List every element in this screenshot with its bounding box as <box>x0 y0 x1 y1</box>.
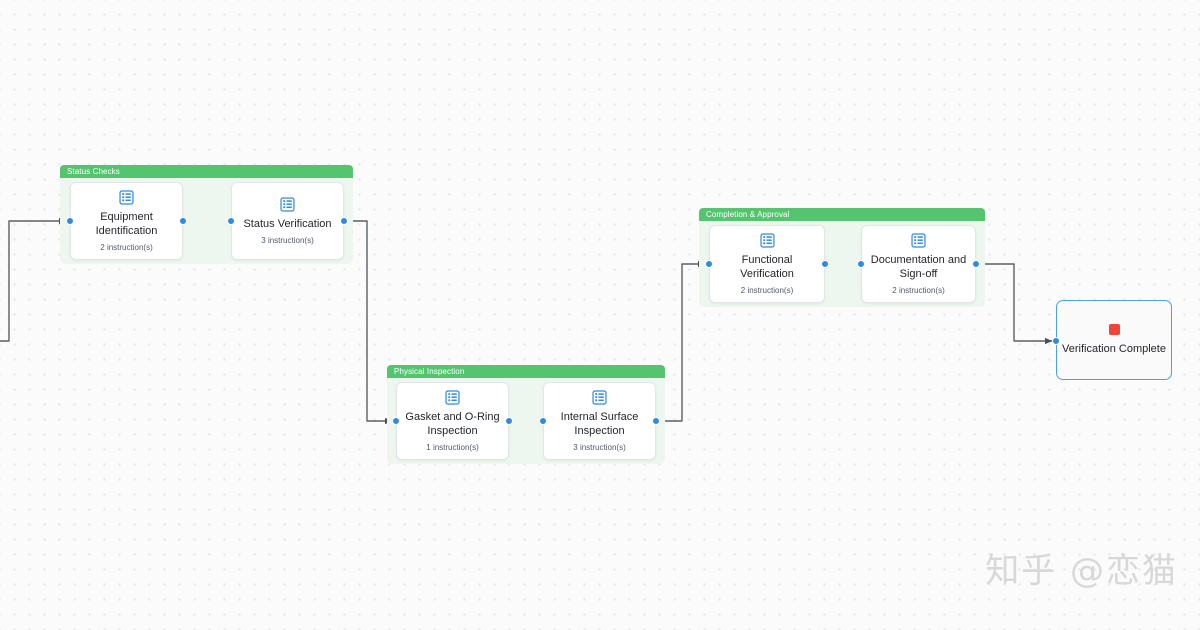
node-title: Equipment Identification <box>79 210 174 238</box>
edge-documentation-to-complete[interactable] <box>976 264 1052 341</box>
list-table-icon <box>119 190 134 205</box>
list-table-icon <box>760 233 775 248</box>
node-status-verification[interactable]: Status Verification3 instruction(s) <box>231 182 344 260</box>
node-instruction-count: 3 instruction(s) <box>573 443 625 453</box>
node-functional-verification[interactable]: Functional Verification2 instruction(s) <box>709 225 825 303</box>
node-documentation-signoff[interactable]: Documentation and Sign-off2 instruction(… <box>861 225 976 303</box>
node-title: Functional Verification <box>718 253 816 281</box>
node-instruction-count: 2 instruction(s) <box>741 286 793 296</box>
node-internal-surface-inspection[interactable]: Internal Surface Inspection3 instruction… <box>543 382 656 460</box>
watermark: 知乎 @恋猫 <box>985 543 1178 592</box>
connection-handle-h-internal-out[interactable] <box>652 417 660 425</box>
connection-handle-h-equip-out[interactable] <box>179 217 187 225</box>
node-verification-complete[interactable]: Verification Complete <box>1056 300 1172 380</box>
node-instruction-count: 2 instruction(s) <box>892 286 944 296</box>
list-table-icon <box>592 390 607 405</box>
node-title: Status Verification <box>243 217 331 231</box>
workflow-canvas[interactable]: Status ChecksPhysical InspectionCompleti… <box>0 0 1200 630</box>
connection-handle-h-gasket-in[interactable] <box>392 417 400 425</box>
group-header-physical-inspection: Physical Inspection <box>387 365 665 378</box>
node-equipment-identification[interactable]: Equipment Identification2 instruction(s) <box>70 182 183 260</box>
edge-entry-to-equipment[interactable] <box>0 221 66 341</box>
connection-handle-h-func-in[interactable] <box>705 260 713 268</box>
list-table-icon <box>445 390 460 405</box>
node-instruction-count: 3 instruction(s) <box>261 236 313 246</box>
connection-handle-h-end-in[interactable] <box>1052 337 1060 345</box>
connection-handle-h-status-in[interactable] <box>227 217 235 225</box>
connection-handle-h-gasket-out[interactable] <box>505 417 513 425</box>
connection-handle-h-func-out[interactable] <box>821 260 829 268</box>
stop-square-icon <box>1109 324 1120 335</box>
connection-handle-h-equip-in[interactable] <box>66 217 74 225</box>
end-node-title: Verification Complete <box>1062 342 1166 356</box>
connection-handle-h-status-out[interactable] <box>340 217 348 225</box>
node-gasket-oring-inspection[interactable]: Gasket and O-Ring Inspection1 instructio… <box>396 382 509 460</box>
node-title: Gasket and O-Ring Inspection <box>405 410 500 438</box>
list-table-icon <box>911 233 926 248</box>
edges-layer <box>0 0 1200 630</box>
connection-handle-h-internal-in[interactable] <box>539 417 547 425</box>
group-header-status-checks: Status Checks <box>60 165 353 178</box>
node-instruction-count: 2 instruction(s) <box>100 243 152 253</box>
group-header-completion-approval: Completion & Approval <box>699 208 985 221</box>
connection-handle-h-doc-in[interactable] <box>857 260 865 268</box>
list-table-icon <box>280 197 295 212</box>
node-title: Internal Surface Inspection <box>552 410 647 438</box>
node-instruction-count: 1 instruction(s) <box>426 443 478 453</box>
connection-handle-h-doc-out[interactable] <box>972 260 980 268</box>
node-title: Documentation and Sign-off <box>870 253 967 281</box>
